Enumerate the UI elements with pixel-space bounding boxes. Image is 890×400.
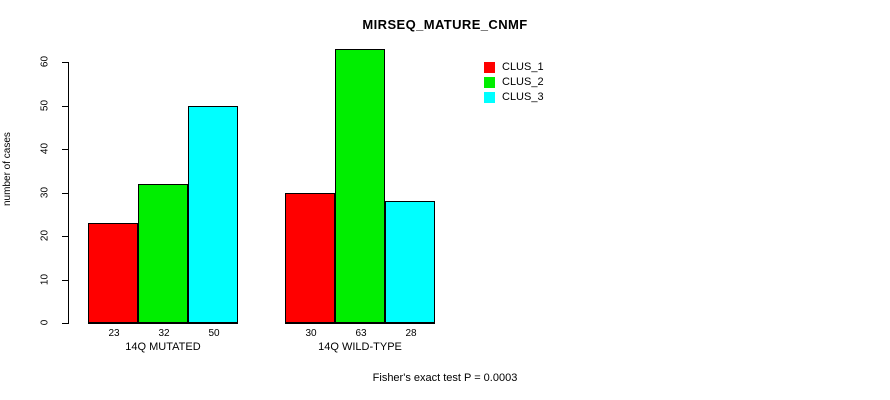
y-tick-mark <box>62 62 69 63</box>
bar-value-label: 50 <box>188 328 240 339</box>
bar <box>138 184 188 323</box>
y-tick-mark <box>62 280 69 281</box>
bar-chart-plot: MIRSEQ_MATURE_CNMF number of cases 01020… <box>0 0 890 400</box>
legend-swatch-clus-1 <box>484 62 495 73</box>
x-axis-line-group-1 <box>88 323 238 324</box>
legend-swatch-clus-2 <box>484 77 495 88</box>
legend-label-clus-3: CLUS_3 <box>502 92 544 103</box>
bar <box>285 193 335 324</box>
legend: CLUS_1 CLUS_2 CLUS_3 <box>484 60 544 105</box>
y-axis-label-text: number of cases <box>2 190 13 206</box>
legend-item: CLUS_1 <box>484 60 544 75</box>
y-tick-label: 10 <box>40 266 51 292</box>
bar-value-label: 23 <box>88 328 140 339</box>
y-tick-label: 20 <box>40 223 51 249</box>
x-axis-group-label: 14Q WILD-TYPE <box>260 341 460 353</box>
y-axis-label: number of cases <box>2 160 13 176</box>
y-tick-label: 0 <box>40 310 51 336</box>
bar <box>385 201 435 323</box>
y-tick-mark <box>62 236 69 237</box>
chart-title: MIRSEQ_MATURE_CNMF <box>0 17 890 32</box>
y-tick-mark <box>62 149 69 150</box>
footnote: Fisher's exact test P = 0.0003 <box>0 372 890 384</box>
y-tick-mark <box>62 106 69 107</box>
y-tick-mark <box>62 323 69 324</box>
y-tick-label: 30 <box>40 179 51 205</box>
bar <box>188 106 238 324</box>
bar-value-label: 32 <box>138 328 190 339</box>
legend-item: CLUS_2 <box>484 75 544 90</box>
bar <box>335 49 385 323</box>
bar-value-label: 28 <box>385 328 437 339</box>
legend-label-clus-2: CLUS_2 <box>502 77 544 88</box>
legend-item: CLUS_3 <box>484 90 544 105</box>
x-axis-line-group-2 <box>285 323 435 324</box>
y-tick-label: 40 <box>40 136 51 162</box>
y-tick-mark <box>62 193 69 194</box>
y-tick-label: 50 <box>40 92 51 118</box>
bar-value-label: 63 <box>335 328 387 339</box>
y-tick-label: 60 <box>40 49 51 75</box>
legend-label-clus-1: CLUS_1 <box>502 62 544 73</box>
bar-value-label: 30 <box>285 328 337 339</box>
bar <box>88 223 138 323</box>
legend-swatch-clus-3 <box>484 92 495 103</box>
x-axis-group-label: 14Q MUTATED <box>63 341 263 353</box>
